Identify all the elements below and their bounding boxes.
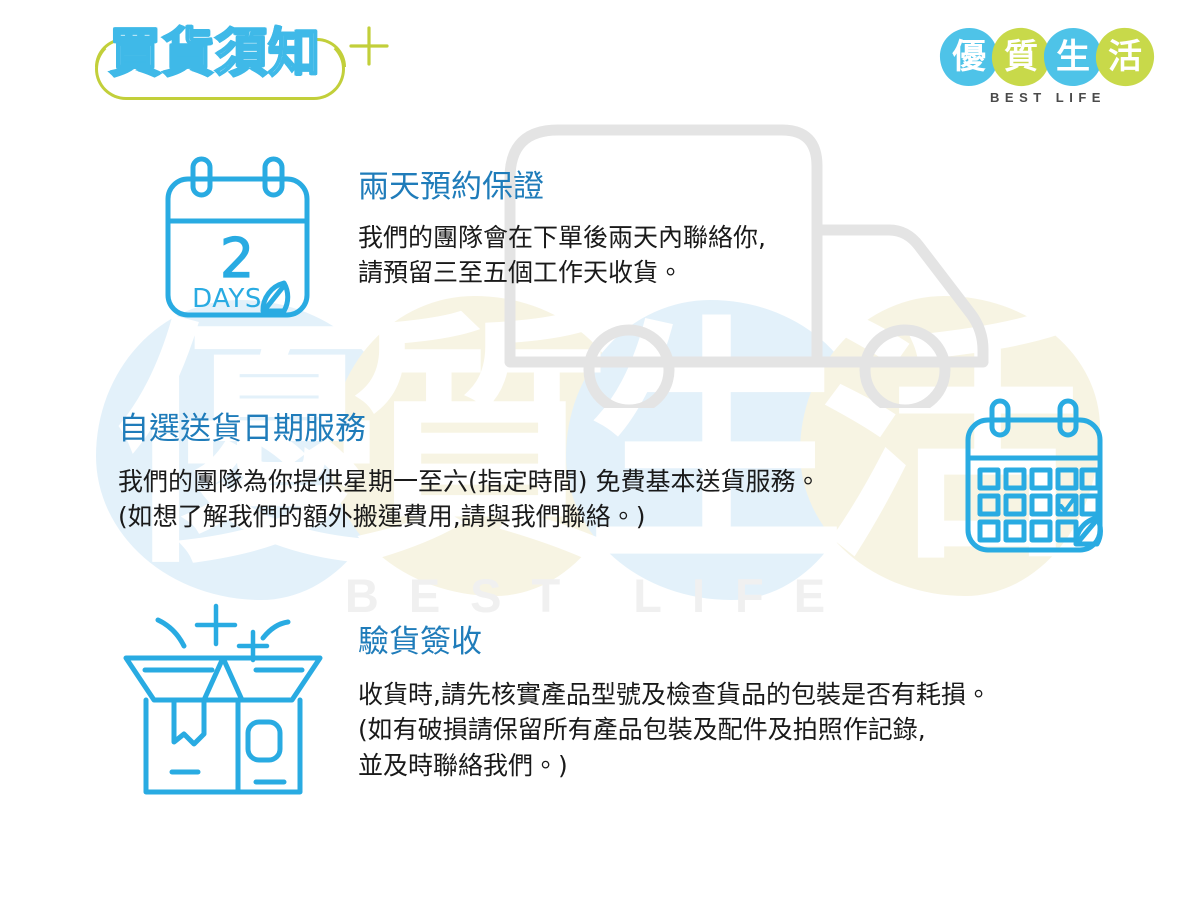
sparkle-plus-icon [345,22,393,70]
logo-blobs: 優 質 生 活 [938,26,1158,88]
body-line: 收貨時,請先核實產品型號及檢查貨品的包裝是否有耗損。 [358,677,991,713]
logo-char-4: 活 [1108,40,1142,74]
logo-char-1: 優 [952,40,986,74]
content-layer: 買貨須知 優 質 [0,0,1200,900]
calendar-unit: DAYS [192,284,262,314]
calendar-grid-check-icon [958,398,1110,558]
page-title-block: 買貨須知 [95,22,395,104]
calendar-number: 2 [220,227,254,290]
body-line: 並及時聯絡我們。) [358,748,991,784]
logo-blob-4: 活 [1094,26,1156,88]
brand-logo: 優 質 生 活 [938,26,1158,114]
section-self-select-delivery-date: 自選送貨日期服務 我們的團隊為你提供星期一至六(指定時間) 免費基本送貨服務。 … [118,412,820,535]
body-line: (如有破損請保留所有產品包裝及配件及拍照作記錄, [358,712,991,748]
page-title: 買貨須知 [109,28,321,80]
logo-caption: BEST LIFE [938,90,1158,105]
section-heading: 兩天預約保證 [358,170,766,206]
section-inspect-and-sign-receipt: 驗貨簽收 收貨時,請先核實產品型號及檢查貨品的包裝是否有耗損。 (如有破損請保留… [358,625,991,783]
section-heading: 驗貨簽收 [358,625,991,661]
section-body: 我們的團隊為你提供星期一至六(指定時間) 免費基本送貨服務。 (如想了解我們的額… [118,464,820,535]
section-two-day-booking-guarantee: 兩天預約保證 我們的團隊會在下單後兩天內聯絡你, 請預留三至五個工作天收貨。 [358,170,766,291]
body-line: 我們的團隊會在下單後兩天內聯絡你, [358,220,766,256]
section-heading: 自選送貨日期服務 [118,412,820,448]
logo-char-2: 質 [1004,40,1038,74]
logo-char-3: 生 [1056,40,1090,74]
section-body: 收貨時,請先核實產品型號及檢查貨品的包裝是否有耗損。 (如有破損請保留所有產品包… [358,677,991,784]
body-line: (如想了解我們的額外搬運費用,請與我們聯絡。) [118,499,820,535]
body-line: 請預留三至五個工作天收貨。 [358,255,766,291]
section-body: 我們的團隊會在下單後兩天內聯絡你, 請預留三至五個工作天收貨。 [358,220,766,291]
page-root: 優 質 生 活 BEST LIFE 買貨須知 [0,0,1200,900]
calendar-2days-icon: 2 DAYS [155,155,320,325]
open-box-sparkle-icon [112,600,334,805]
body-line: 我們的團隊為你提供星期一至六(指定時間) 免費基本送貨服務。 [118,464,820,500]
